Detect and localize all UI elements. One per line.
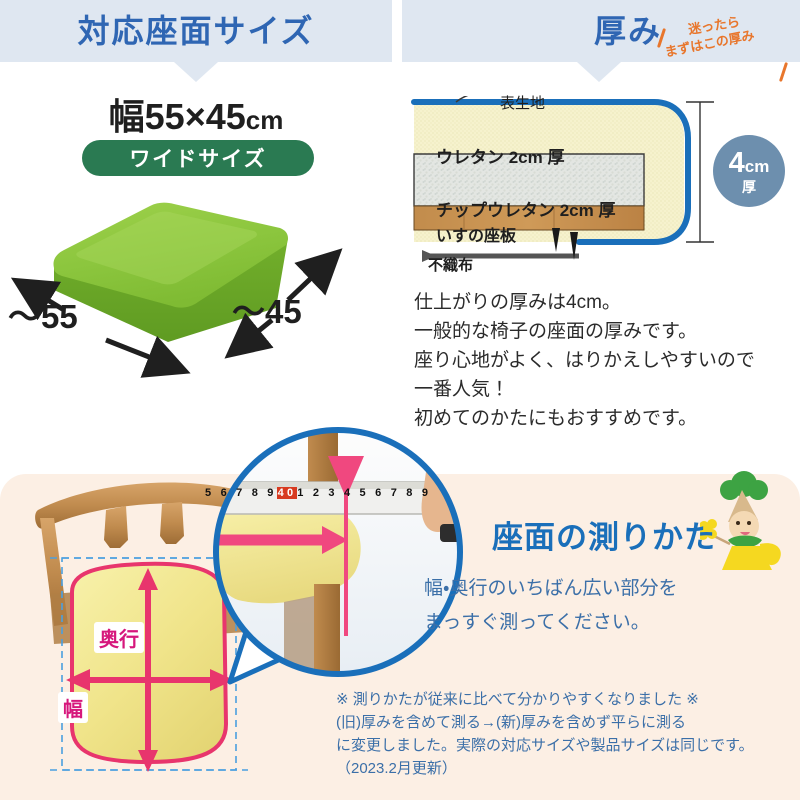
measure-instructions: 幅・奥行のいちばん広い部分を まっすぐ測ってください。 bbox=[424, 572, 794, 640]
header-title-left: 対応座面サイズ bbox=[0, 10, 392, 52]
cushion-dimension-arrows bbox=[0, 180, 392, 380]
label-layer-urethane: ウレタン 2cm 厚 bbox=[436, 143, 564, 168]
footnote-line: ※ 測りかたが従来に比べて分かりやすくなりました ※ bbox=[336, 688, 796, 711]
thickness-badge-value-row: 4cm bbox=[729, 149, 770, 178]
header-title-right: 厚み bbox=[402, 10, 662, 52]
footnote-line: に変更しました。実際の対応サイズや製品サイズは同じです。 bbox=[336, 734, 796, 757]
header-notch-left bbox=[174, 62, 218, 82]
label-nonwoven-fabric: 不織布 bbox=[428, 254, 473, 275]
label-layer-seat-board: いすの座板 bbox=[436, 222, 516, 246]
footnote-block: ※ 測りかたが従来に比べて分かりやすくなりました ※ (旧)厚みを含めて測る→(… bbox=[336, 688, 796, 780]
seat-width-label: 幅 bbox=[58, 692, 88, 723]
header-notch-right bbox=[577, 62, 621, 82]
measure-instruction-line: まっすぐ測ってください。 bbox=[424, 606, 794, 640]
description-line: 座り心地がよく、はりかえしやすいので bbox=[414, 346, 794, 375]
thickness-badge-value: 4 bbox=[729, 147, 745, 179]
wide-size-pill: ワイドサイズ bbox=[82, 140, 314, 176]
description-line: 一番人気！ bbox=[414, 375, 794, 404]
tape-numbers-before: 5 6 7 8 9 bbox=[205, 487, 277, 499]
size-unit: cm bbox=[246, 105, 284, 135]
measure-instruction-line: 幅・奥行のいちばん広い部分を bbox=[424, 572, 794, 606]
size-value: 55×45 bbox=[145, 96, 246, 137]
dimension-label-depth: ～45 bbox=[232, 285, 302, 333]
seat-size-title: 幅55×45cm bbox=[0, 88, 392, 140]
wide-size-label: ワイドサイズ bbox=[129, 143, 266, 173]
size-prefix: 幅 bbox=[109, 96, 145, 137]
tape-highlight-40: 40 bbox=[277, 487, 298, 499]
thickness-description: 仕上がりの厚みは4cm。 一般的な椅子の座面の厚みです。 座り心地がよく、はりか… bbox=[414, 288, 794, 433]
thickness-badge: 4cm 厚 bbox=[713, 135, 785, 207]
seat-depth-label: 奥行 bbox=[94, 622, 144, 653]
infographic-root: 対応座面サイズ 厚み 迷ったら まずはこの厚み 幅55×45cm ワイドサイズ bbox=[0, 0, 800, 800]
dimension-label-width: ～55 bbox=[8, 290, 78, 338]
label-surface-fabric: 表生地 bbox=[500, 92, 545, 113]
measure-section-title: 座面の測りかた bbox=[492, 512, 716, 557]
tape-measure-numbers: 5 6 7 8 9401 2 3 4 5 6 7 8 9 bbox=[205, 487, 405, 499]
label-layer-chip-urethane: チップウレタン 2cm 厚 bbox=[436, 196, 615, 221]
thickness-badge-unit: cm bbox=[745, 157, 770, 176]
description-line: 仕上がりの厚みは4cm。 bbox=[414, 288, 794, 317]
description-line: 一般的な椅子の座面の厚みです。 bbox=[414, 317, 794, 346]
footnote-line: （2023.2月更新） bbox=[336, 757, 796, 780]
thickness-badge-sub: 厚 bbox=[742, 180, 756, 194]
handwriting-slash-right bbox=[779, 62, 788, 82]
tape-numbers-after: 1 2 3 4 5 6 7 8 9 bbox=[297, 487, 431, 499]
footnote-line: (旧)厚みを含めて測る→(新)厚みを含めず平らに測る bbox=[336, 711, 796, 734]
